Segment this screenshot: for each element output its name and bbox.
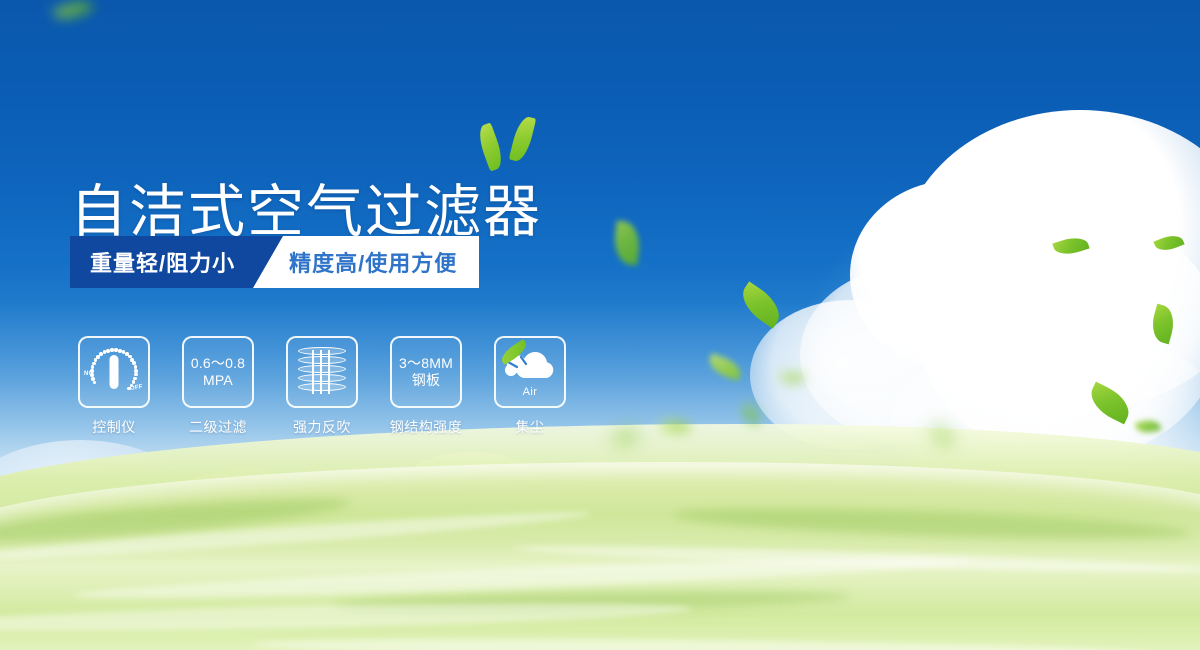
feature-label: 钢结构强度: [390, 417, 463, 437]
gauge-tick-dot: [118, 349, 122, 353]
gauge-tick-dot: [90, 373, 94, 377]
tagline-slant-divider: [253, 236, 283, 288]
gauge-tick-dot: [91, 365, 95, 369]
gauge-tick-dot: [134, 373, 138, 377]
cartridge-bar: [328, 350, 330, 394]
gauge-tick-dot: [92, 362, 96, 366]
feature-icon-box: NO OFF: [78, 336, 150, 408]
leaf-icon: [735, 281, 788, 328]
cloud-shape: [910, 135, 1160, 365]
leaf-icon: [611, 220, 643, 265]
leaf-icon: [52, 0, 93, 25]
gauge-tick-dot: [90, 369, 94, 373]
grass-shading: [672, 503, 1193, 545]
grass-shading: [0, 490, 352, 553]
grass-hill: [0, 462, 1200, 650]
page-title: 自洁式空气过滤器: [70, 184, 542, 241]
leaf-icon: [779, 370, 805, 385]
feature-item-control-unit[interactable]: NO OFF 控制仪: [78, 336, 150, 437]
feature-label: 集尘: [516, 417, 545, 437]
feature-item-dust-collection[interactable]: Air 集尘: [494, 336, 566, 437]
icon-text-line-2: 钢板: [399, 372, 453, 390]
hero-banner: 自洁式空气过滤器 重量轻/阻力小 精度高/使用方便 NO OFF 控制仪 0.6…: [0, 0, 1200, 650]
gauge-dial-icon: NO OFF: [85, 344, 143, 400]
leaf-icon: [1135, 417, 1161, 435]
cartridge-bar: [320, 350, 322, 394]
cloud-shape: [850, 180, 1060, 370]
gauge-needle-icon: [110, 355, 119, 389]
filter-cartridge-icon: [298, 347, 346, 397]
feature-item-steel-strength[interactable]: 3～8MM 钢板 钢结构强度: [390, 336, 462, 437]
cartridge-bar: [312, 350, 314, 394]
grass-highlight: [0, 506, 592, 567]
feature-icon-box: 3～8MM 钢板: [390, 336, 462, 408]
cloud-shape: [920, 210, 1200, 460]
feature-icon-box: 0.6～0.8 MPA: [182, 336, 254, 408]
leaf-icon: [1052, 233, 1089, 259]
sprout-blade-right-icon: [509, 115, 537, 164]
gauge-tick-dot: [127, 387, 131, 391]
feature-item-strong-backblow[interactable]: 强力反吹: [286, 336, 358, 437]
feature-icon-box: Air: [494, 336, 566, 408]
grass-highlight: [72, 551, 972, 606]
leaf-icon: [1085, 382, 1136, 425]
leaf-icon: [1153, 231, 1184, 254]
feature-label: 强力反吹: [293, 417, 351, 437]
sprout-leaves-icon: [476, 112, 546, 172]
feature-item-two-stage-filter[interactable]: 0.6～0.8 MPA 二级过滤: [182, 336, 254, 437]
leaf-icon: [706, 353, 744, 381]
grass-shading: [332, 587, 852, 614]
cloud-shape: [800, 265, 1030, 445]
sprout-blade-left-icon: [475, 122, 507, 171]
pressure-text-icon: 0.6～0.8 MPA: [191, 355, 245, 390]
grass-highlight: [0, 598, 692, 636]
feature-label: 控制仪: [92, 417, 136, 437]
grass-highlight: [512, 541, 1200, 577]
tagline-left-text: 重量轻/阻力小: [70, 236, 253, 288]
feature-icon-box: [286, 336, 358, 408]
tagline-badge: 重量轻/阻力小 精度高/使用方便: [70, 236, 479, 288]
cloud-caption: Air: [502, 386, 558, 398]
icon-text-line-1: 3～8MM: [399, 355, 453, 371]
tagline-right-text: 精度高/使用方便: [283, 236, 479, 288]
steel-plate-text-icon: 3～8MM 钢板: [399, 355, 453, 390]
feature-list: NO OFF 控制仪 0.6～0.8 MPA 二级过滤: [78, 336, 566, 437]
leaf-icon: [739, 402, 764, 425]
cloud-shape: [900, 110, 1200, 410]
gauge-tick-dot: [91, 377, 95, 381]
grass-highlight: [252, 635, 1152, 650]
feature-label: 二级过滤: [189, 417, 247, 437]
cloud-air-icon: Air: [502, 348, 558, 396]
icon-text-line-1: 0.6～0.8: [191, 355, 245, 371]
icon-text-line-2: MPA: [191, 372, 245, 390]
leaf-icon: [1147, 304, 1178, 345]
gauge-tick-dot: [94, 358, 98, 362]
gauge-tick-dot: [93, 381, 97, 385]
